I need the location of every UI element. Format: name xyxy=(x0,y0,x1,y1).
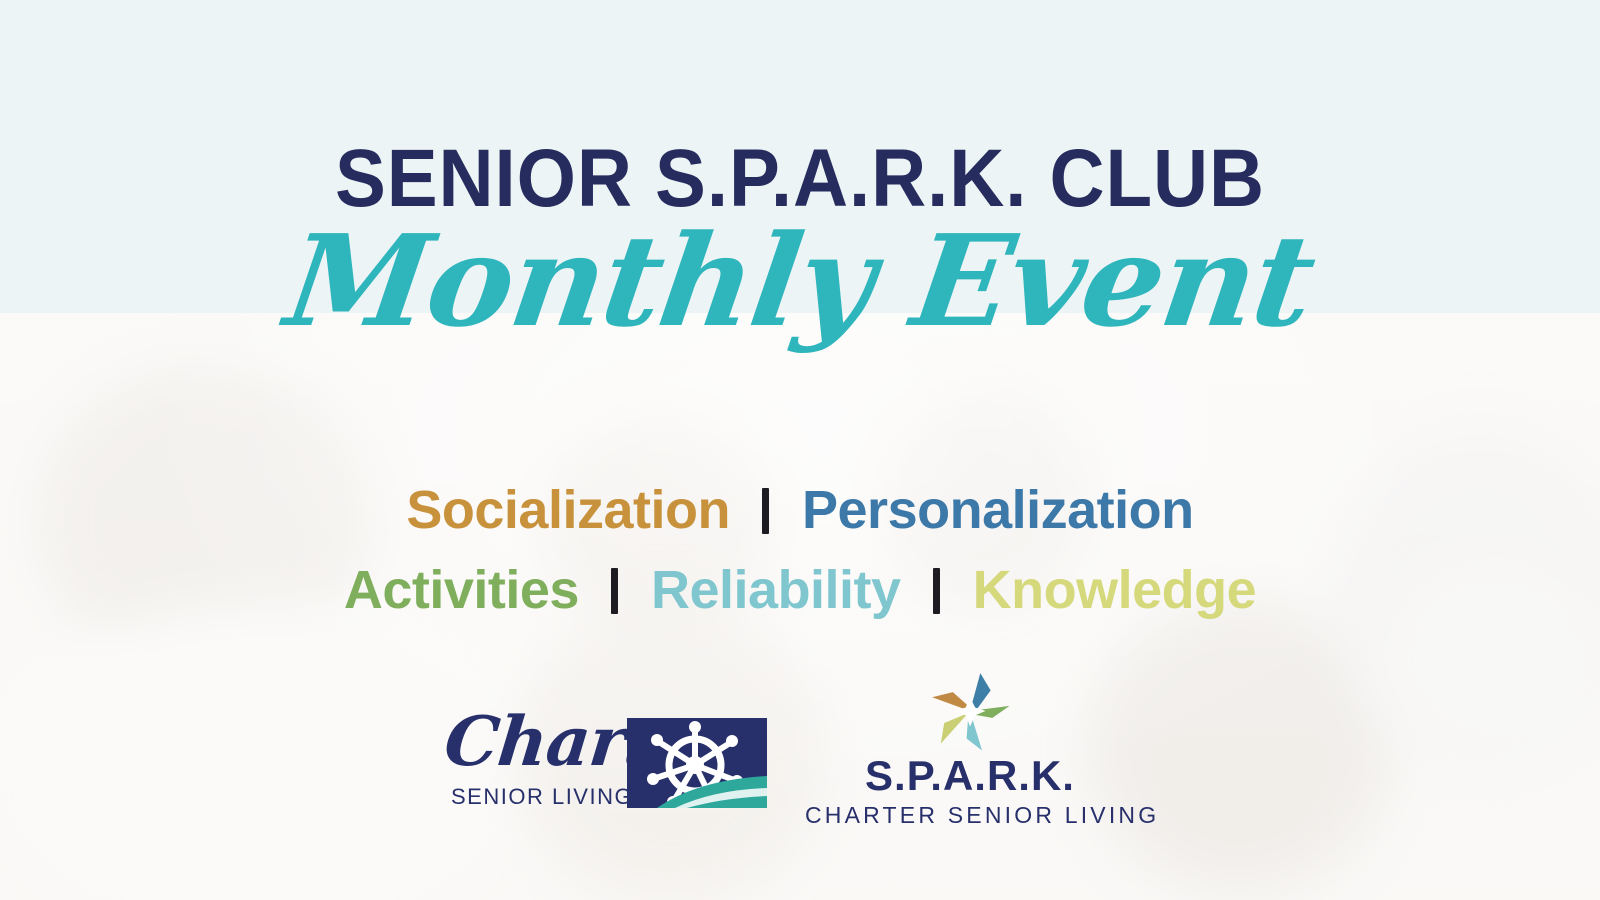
promo-graphic: SENIOR S.P.A.R.K. CLUB Monthly Event Soc… xyxy=(0,0,1600,900)
spark-wordmark: S.P.A.R.K. xyxy=(805,752,1135,800)
spark-values: Socialization Personalization Activities… xyxy=(0,470,1600,630)
spark-tagline: CHARTER SENIOR LIVING xyxy=(805,802,1135,829)
values-row-1: Socialization Personalization xyxy=(0,470,1600,550)
values-row-2: Activities Reliability Knowledge xyxy=(0,550,1600,630)
script-subtitle: Monthly Event xyxy=(0,218,1600,344)
value-divider xyxy=(762,488,769,534)
value-personalization: Personalization xyxy=(802,470,1194,550)
value-reliability: Reliability xyxy=(651,550,901,630)
value-divider xyxy=(933,568,940,614)
spark-logo: S.P.A.R.K. CHARTER SENIOR LIVING xyxy=(805,668,1135,828)
value-divider xyxy=(611,568,618,614)
five-point-star-icon xyxy=(927,668,1013,754)
value-socialization: Socialization xyxy=(406,470,730,550)
ships-wheel-emblem-icon xyxy=(627,718,767,808)
value-knowledge: Knowledge xyxy=(973,550,1257,630)
value-activities: Activities xyxy=(344,550,579,630)
charter-logo: Charter SENIOR LIVING, LLC xyxy=(445,700,785,820)
logo-row: Charter SENIOR LIVING, LLC xyxy=(0,690,1600,830)
